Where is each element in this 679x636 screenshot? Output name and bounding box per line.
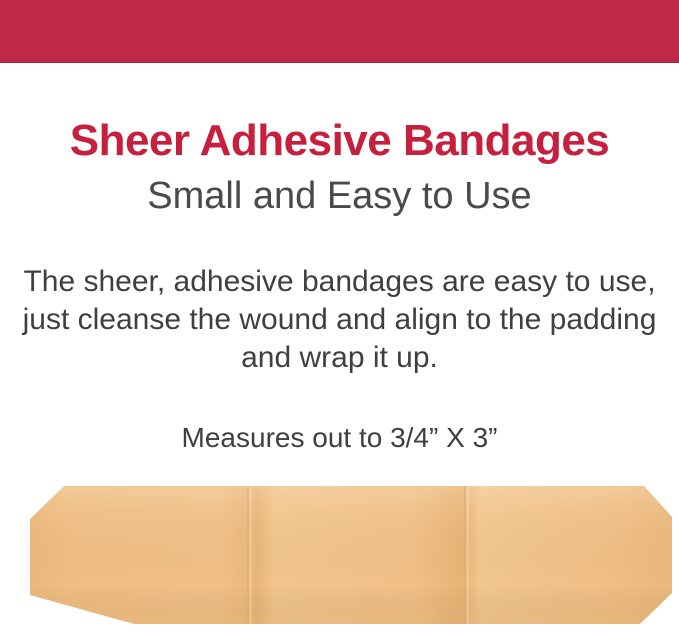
bandage-shading: [30, 486, 672, 624]
top-red-banner: [0, 0, 679, 63]
page-title: Sheer Adhesive Bandages: [0, 63, 679, 167]
bandage-crease-left: [247, 486, 249, 624]
bandage-crease-left-highlight: [249, 486, 252, 624]
product-description: The sheer, adhesive bandages are easy to…: [20, 219, 660, 377]
product-info-card: Sheer Adhesive Bandages Small and Easy t…: [0, 0, 679, 636]
product-measurement: Measures out to 3/4” X 3”: [20, 377, 660, 455]
bandage-crease-right: [464, 486, 466, 624]
page-subtitle: Small and Easy to Use: [0, 167, 679, 219]
bandage-image-container: [0, 483, 679, 636]
text-content-block: Sheer Adhesive Bandages Small and Easy t…: [0, 63, 679, 455]
bandage-crease-right-highlight: [466, 486, 469, 624]
adhesive-bandage-illustration: [0, 483, 679, 636]
